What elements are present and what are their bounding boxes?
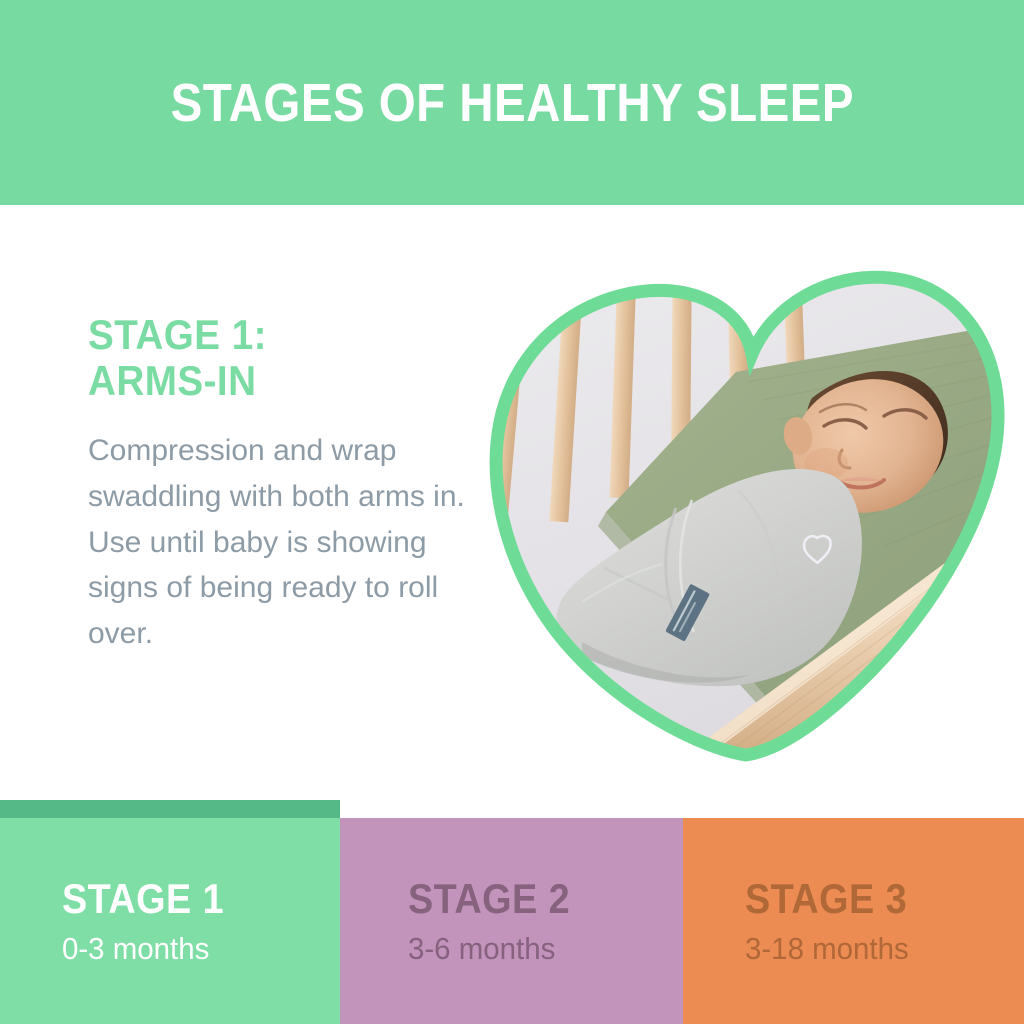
stage-bar-title-3: STAGE 3: [745, 877, 996, 921]
crib-leg: [866, 670, 888, 772]
stage-copy-block: STAGE 1: ARMS-IN Compression and wrap sw…: [88, 312, 488, 656]
stage-bar-subtitle-2: 3-6 months: [408, 933, 669, 966]
heart-photo-svg: [486, 250, 1006, 772]
stage-bar-stage-3[interactable]: STAGE 3 3-18 months: [683, 818, 1024, 1024]
stage-bar-stage-2[interactable]: STAGE 2 3-6 months: [340, 818, 683, 1024]
stage-heading-line-1: STAGE 1:: [88, 311, 267, 358]
heart-photo: [486, 250, 1006, 772]
stage-bar-subtitle-3: 3-18 months: [745, 933, 1010, 966]
header-band: STAGES OF HEALTHY SLEEP: [0, 0, 1024, 205]
stage-bar-group: STAGE 1 0-3 months STAGE 2 3-6 months ST…: [0, 800, 1024, 1024]
stage-bar-title-1: STAGE 1: [62, 877, 312, 921]
stage-bar-title-2: STAGE 2: [408, 877, 656, 921]
infographic-page: STAGES OF HEALTHY SLEEP STAGE 1: ARMS-IN…: [0, 0, 1024, 1024]
stage-heading: STAGE 1: ARMS-IN: [88, 312, 456, 404]
stage-bar-stage-1[interactable]: STAGE 1 0-3 months: [0, 800, 340, 1024]
stage-heading-line-2: ARMS-IN: [88, 358, 456, 404]
stage-bar-subtitle-1: 0-3 months: [62, 933, 326, 966]
page-title: STAGES OF HEALTHY SLEEP: [170, 76, 853, 130]
stage-description: Compression and wrap swaddling with both…: [88, 428, 483, 656]
